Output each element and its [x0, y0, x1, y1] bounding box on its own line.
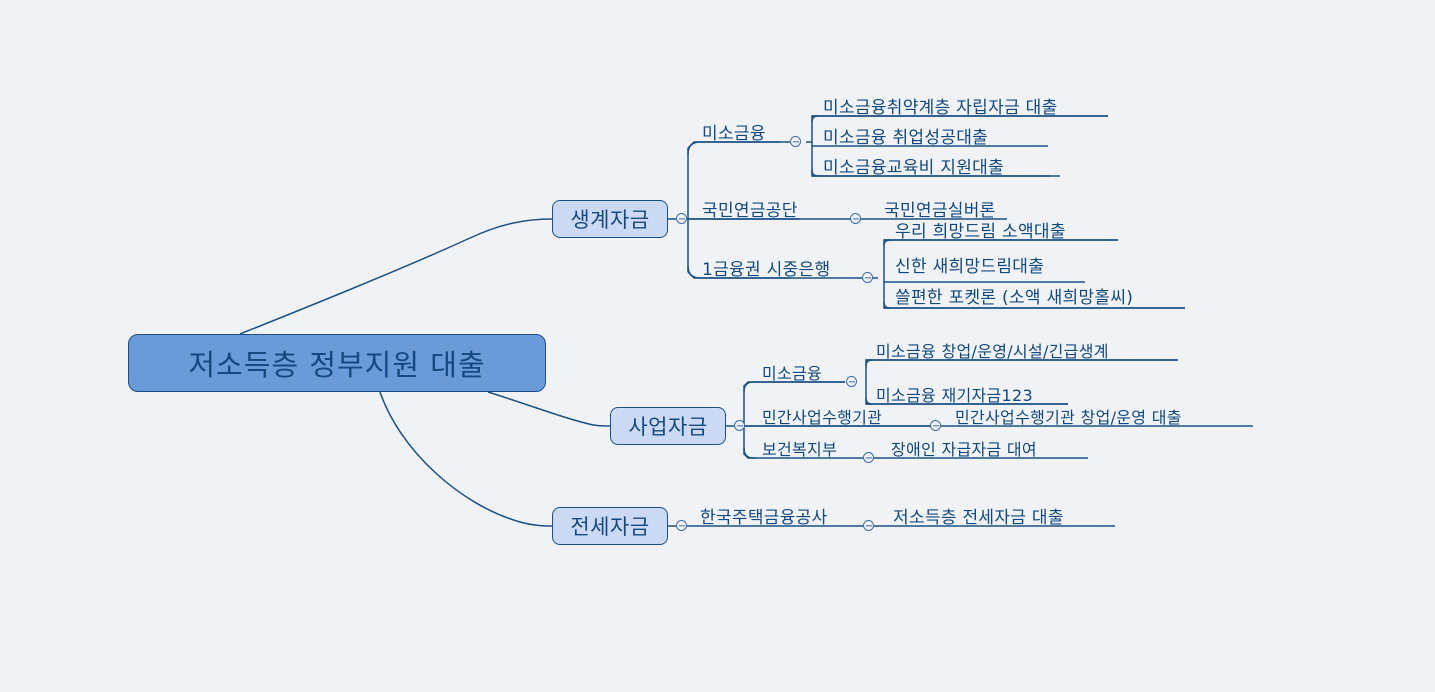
branch-node-living-funds[interactable]: 생계자금 [552, 200, 668, 238]
branch-node-jeonse-funds[interactable]: 전세자금 [552, 507, 668, 545]
leaf-label[interactable]: 쓸편한 포켓론 (소액 새희망홀씨) [895, 290, 1133, 307]
group-label-business-privateagency[interactable]: 민간사업수행기관 [762, 410, 882, 426]
branch-node-business-funds[interactable]: 사업자금 [610, 407, 726, 445]
leaf-label[interactable]: 국민연금실버론 [884, 203, 996, 220]
group-label-business-mohw[interactable]: 보건복지부 [762, 442, 837, 458]
leaf-label[interactable]: 미소금융 재기자금123 [876, 388, 1033, 404]
group-label-jeonse-hf[interactable]: 한국주택금융공사 [700, 510, 828, 527]
leaf-label[interactable]: 저소득층 전세자금 대출 [893, 510, 1064, 527]
collapse-toggle-living-misogeumyung[interactable] [790, 136, 801, 147]
root-node-label: 저소득층 정부지원 대출 [188, 342, 485, 384]
collapse-toggle-living-npservice[interactable] [850, 213, 861, 224]
group-label-living-npservice[interactable]: 국민연금공단 [702, 203, 798, 220]
leaf-label[interactable]: 신한 새희망드림대출 [895, 259, 1044, 276]
leaf-label[interactable]: 미소금융 창업/운영/시설/긴급생계 [876, 344, 1109, 360]
leaf-label[interactable]: 미소금융교육비 지원대출 [823, 160, 1004, 177]
group-label-business-misogeumyung[interactable]: 미소금융 [762, 366, 822, 382]
leaf-label[interactable]: 민간사업수행기관 창업/운영 대출 [955, 410, 1182, 426]
collapse-toggle-jeonse-funds[interactable] [676, 520, 687, 531]
collapse-toggle-business-privateagency[interactable] [930, 420, 941, 431]
leaf-label[interactable]: 우리 희망드림 소액대출 [895, 224, 1066, 241]
collapse-toggle-living-banks[interactable] [862, 272, 873, 283]
leaf-label[interactable]: 미소금융 취업성공대출 [823, 130, 988, 147]
root-node[interactable]: 저소득층 정부지원 대출 [128, 334, 546, 392]
branch-node-label: 사업자금 [628, 411, 707, 441]
collapse-toggle-business-mohw[interactable] [863, 452, 874, 463]
collapse-toggle-business-funds[interactable] [734, 420, 745, 431]
leaf-label[interactable]: 장애인 자급자금 대여 [891, 442, 1037, 458]
group-label-living-misogeumyung[interactable]: 미소금융 [702, 126, 766, 143]
collapse-toggle-business-misogeumyung[interactable] [846, 376, 857, 387]
branch-node-label: 전세자금 [570, 511, 649, 541]
collapse-toggle-living-funds[interactable] [676, 213, 687, 224]
collapse-toggle-jeonse-hf[interactable] [863, 520, 874, 531]
mindmap-canvas: 저소득층 정부지원 대출 생계자금 사업자금 전세자금 미소금융 미소금융취약계… [0, 0, 1435, 692]
leaf-label[interactable]: 미소금융취약계층 자립자금 대출 [823, 100, 1058, 117]
group-label-living-banks[interactable]: 1금융권 시중은행 [702, 262, 830, 279]
branch-node-label: 생계자금 [570, 204, 649, 234]
